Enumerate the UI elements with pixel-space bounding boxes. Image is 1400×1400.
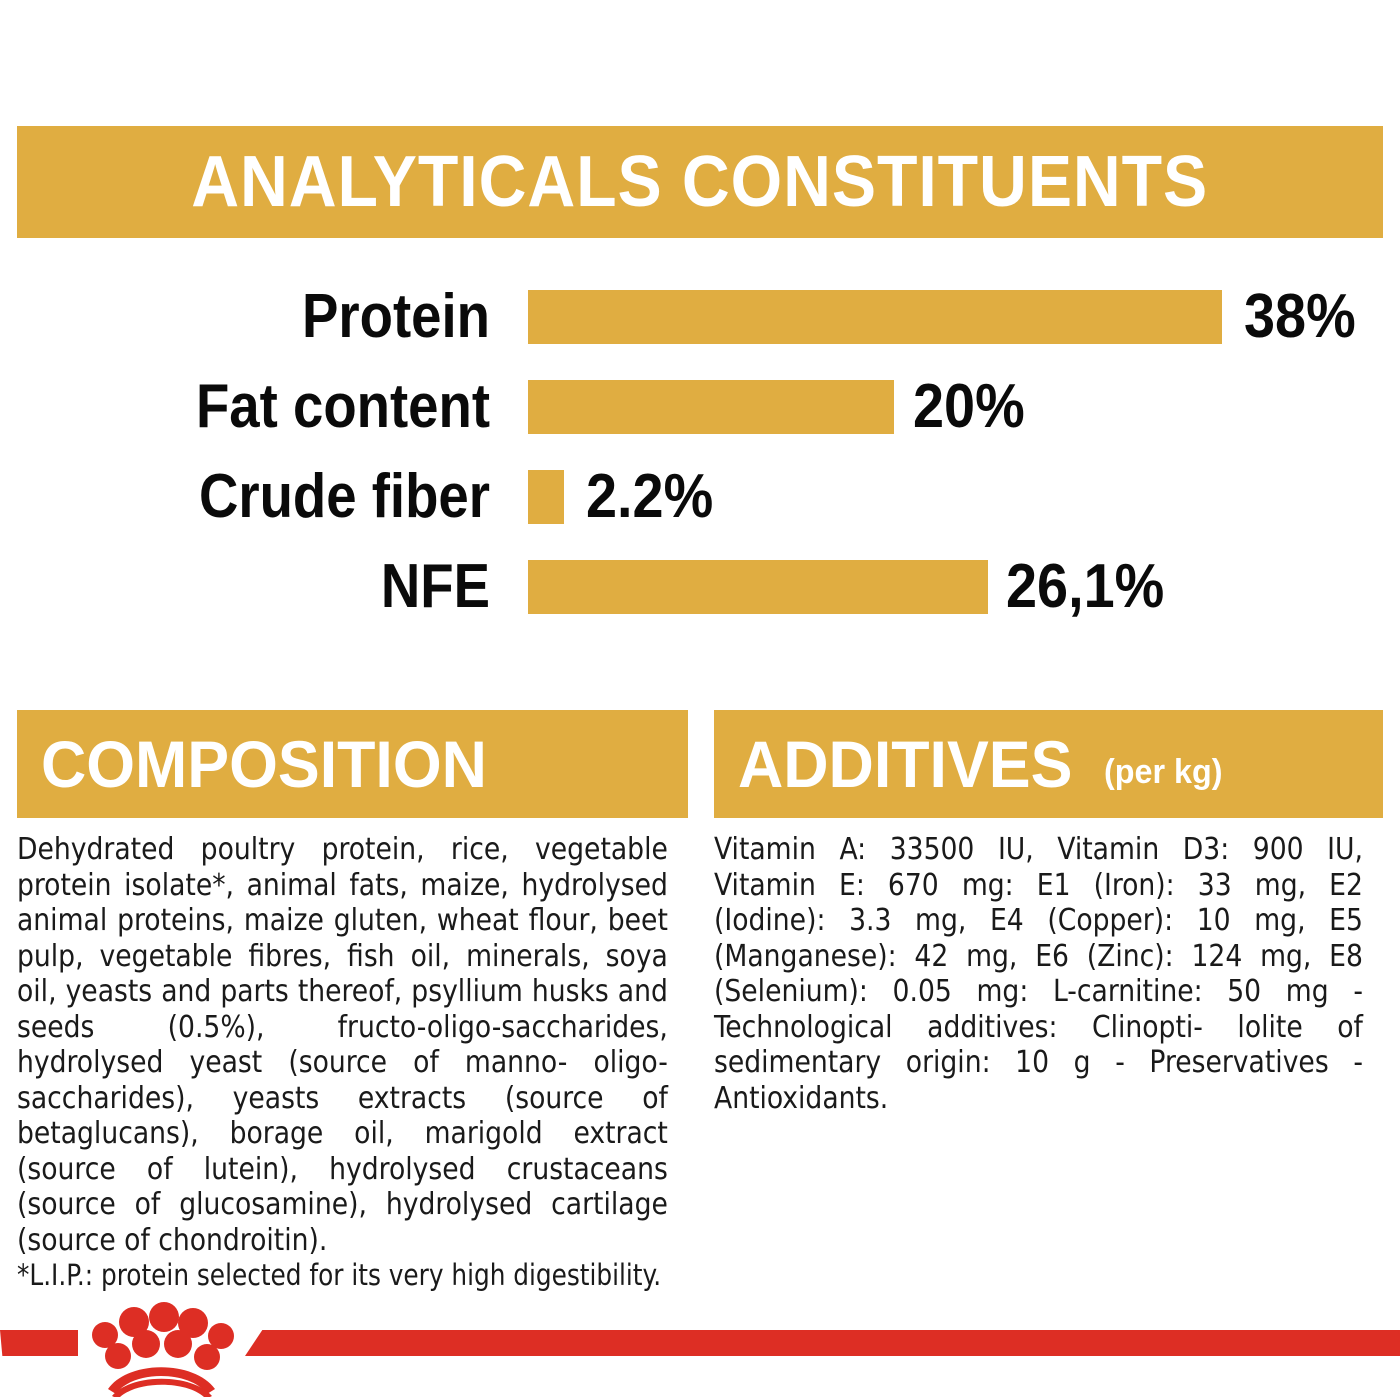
composition-footnote: *L.I.P.: protein selected for its very h…	[17, 1258, 654, 1293]
composition-header: COMPOSITION	[17, 710, 688, 818]
composition-heading: COMPOSITION	[41, 731, 487, 797]
chart-row: NFE 26,1%	[0, 542, 1400, 632]
chart-row-label: Protein	[112, 286, 490, 348]
chart-row: Protein 38%	[0, 272, 1400, 362]
additives-body: Vitamin A: 33500 IU, Vitamin D3: 900 IU,…	[714, 832, 1363, 1116]
chart-row-value: 26,1%	[1006, 556, 1164, 618]
composition-section: COMPOSITION Dehydrated poultry protein, …	[17, 710, 688, 1293]
additives-section: ADDITIVES (per kg) Vitamin A: 33500 IU, …	[714, 710, 1383, 1116]
chart-row-value: 20%	[913, 376, 1025, 438]
chart-row: Fat content 20%	[0, 362, 1400, 452]
footer	[0, 1296, 1400, 1400]
analytical-constituents-banner: ANALYTICALS CONSTITUENTS	[17, 126, 1383, 238]
chart-row-bar	[528, 380, 894, 434]
analytical-constituents-chart: Protein 38% Fat content 20% Crude fiber …	[0, 272, 1400, 632]
additives-subheading: (per kg)	[1104, 755, 1222, 789]
chart-row-bar	[528, 290, 1222, 344]
additives-header: ADDITIVES (per kg)	[714, 710, 1383, 818]
royal-canin-crown-icon	[86, 1297, 236, 1397]
nutrition-label-page: ANALYTICALS CONSTITUENTS Protein 38% Fat…	[0, 0, 1400, 1400]
banner-title: ANALYTICALS CONSTITUENTS	[192, 146, 1209, 218]
chart-row-bar	[528, 560, 988, 614]
chart-row-label: Fat content	[112, 376, 490, 438]
chart-row-label: Crude fiber	[112, 466, 490, 528]
chart-row-value: 38%	[1244, 286, 1356, 348]
chart-row-bar	[528, 470, 564, 524]
chart-row: Crude fiber 2.2%	[0, 452, 1400, 542]
footer-rule-right	[245, 1330, 1400, 1356]
composition-body: Dehydrated poultry protein, rice, vegeta…	[17, 832, 668, 1258]
chart-row-label: NFE	[112, 556, 490, 618]
footer-rule-left	[0, 1330, 78, 1356]
additives-heading: ADDITIVES	[738, 731, 1072, 797]
chart-row-value: 2.2%	[586, 466, 713, 528]
